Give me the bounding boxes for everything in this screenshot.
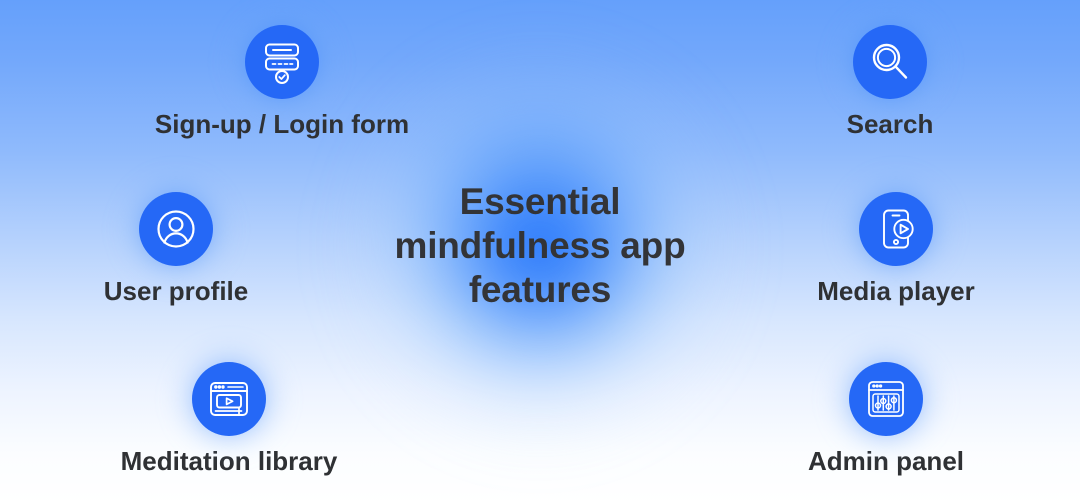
- feature-label-signup-login-form: Sign-up / Login form: [155, 111, 409, 137]
- feature-node-signup-login-form[interactable]: Sign-up / Login form: [122, 25, 442, 137]
- icon-wrap-signup-login-form: [245, 25, 319, 99]
- infographic-canvas: Essential mindfulness app features: [0, 0, 1080, 504]
- feature-label-media-player: Media player: [817, 278, 975, 304]
- feature-node-media-player[interactable]: Media player: [758, 192, 1034, 304]
- media-player-icon[interactable]: [859, 192, 933, 266]
- search-icon[interactable]: [853, 25, 927, 99]
- login-form-icon[interactable]: [245, 25, 319, 99]
- feature-label-user-profile: User profile: [104, 278, 249, 304]
- admin-panel-icon[interactable]: [849, 362, 923, 436]
- icon-wrap-search: [853, 25, 927, 99]
- feature-label-admin-panel: Admin panel: [808, 448, 964, 474]
- feature-node-search[interactable]: Search: [730, 25, 1050, 137]
- user-profile-icon[interactable]: [139, 192, 213, 266]
- feature-node-meditation-library[interactable]: Meditation library: [68, 362, 390, 474]
- icon-wrap-user-profile: [139, 192, 213, 266]
- feature-label-meditation-library: Meditation library: [121, 448, 338, 474]
- icon-wrap-media-player: [859, 192, 933, 266]
- icon-wrap-meditation-library: [192, 362, 266, 436]
- feature-label-search: Search: [847, 111, 934, 137]
- feature-node-admin-panel[interactable]: Admin panel: [768, 362, 1004, 474]
- page-title: Essential mindfulness app features: [310, 180, 770, 312]
- meditation-library-icon[interactable]: [192, 362, 266, 436]
- feature-node-user-profile[interactable]: User profile: [38, 192, 314, 304]
- icon-wrap-admin-panel: [849, 362, 923, 436]
